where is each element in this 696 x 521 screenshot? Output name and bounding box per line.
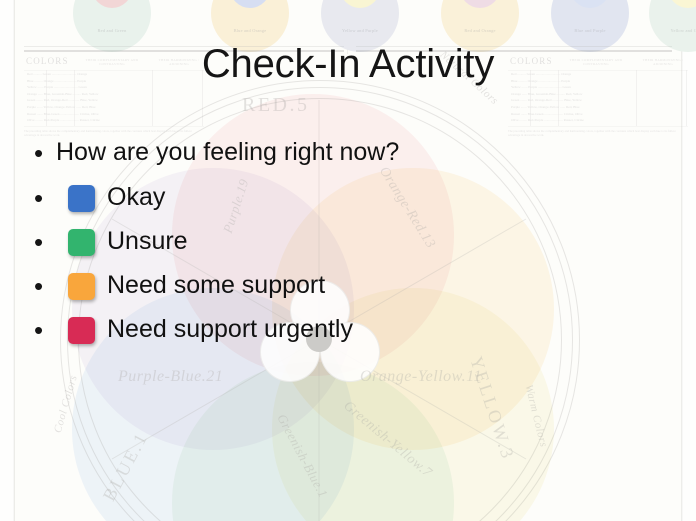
bullet-marker-icon: • [34, 317, 56, 343]
bullet-marker-icon: • [34, 273, 56, 299]
page-title: Check-In Activity [0, 44, 696, 84]
color-swatch-need-support-urgently[interactable] [68, 317, 95, 344]
bullet-row: •Okay [34, 176, 634, 220]
slide-content: Check-In Activity •How are you feeling r… [0, 0, 696, 521]
bullet-list: •How are you feeling right now?•Okay•Uns… [34, 130, 634, 352]
bullet-row: •Need some support [34, 264, 634, 308]
bullet-text: Need support urgently [107, 316, 353, 344]
bullet-text: How are you feeling right now? [56, 139, 399, 167]
bullet-marker-icon: • [34, 140, 56, 166]
bullet-text: Okay [107, 184, 165, 212]
bullet-row: •Unsure [34, 220, 634, 264]
bullet-marker-icon: • [34, 229, 56, 255]
bullet-row: •How are you feeling right now? [34, 130, 634, 176]
bullet-text: Unsure [107, 228, 188, 256]
color-swatch-okay[interactable] [68, 185, 95, 212]
bullet-row: •Need support urgently [34, 308, 634, 352]
slide: Red and GreenBlue and OrangeYellow and P… [0, 0, 696, 521]
bullet-marker-icon: • [34, 185, 56, 211]
bullet-text: Need some support [107, 272, 325, 300]
color-swatch-need-some-support[interactable] [68, 273, 95, 300]
color-swatch-unsure[interactable] [68, 229, 95, 256]
